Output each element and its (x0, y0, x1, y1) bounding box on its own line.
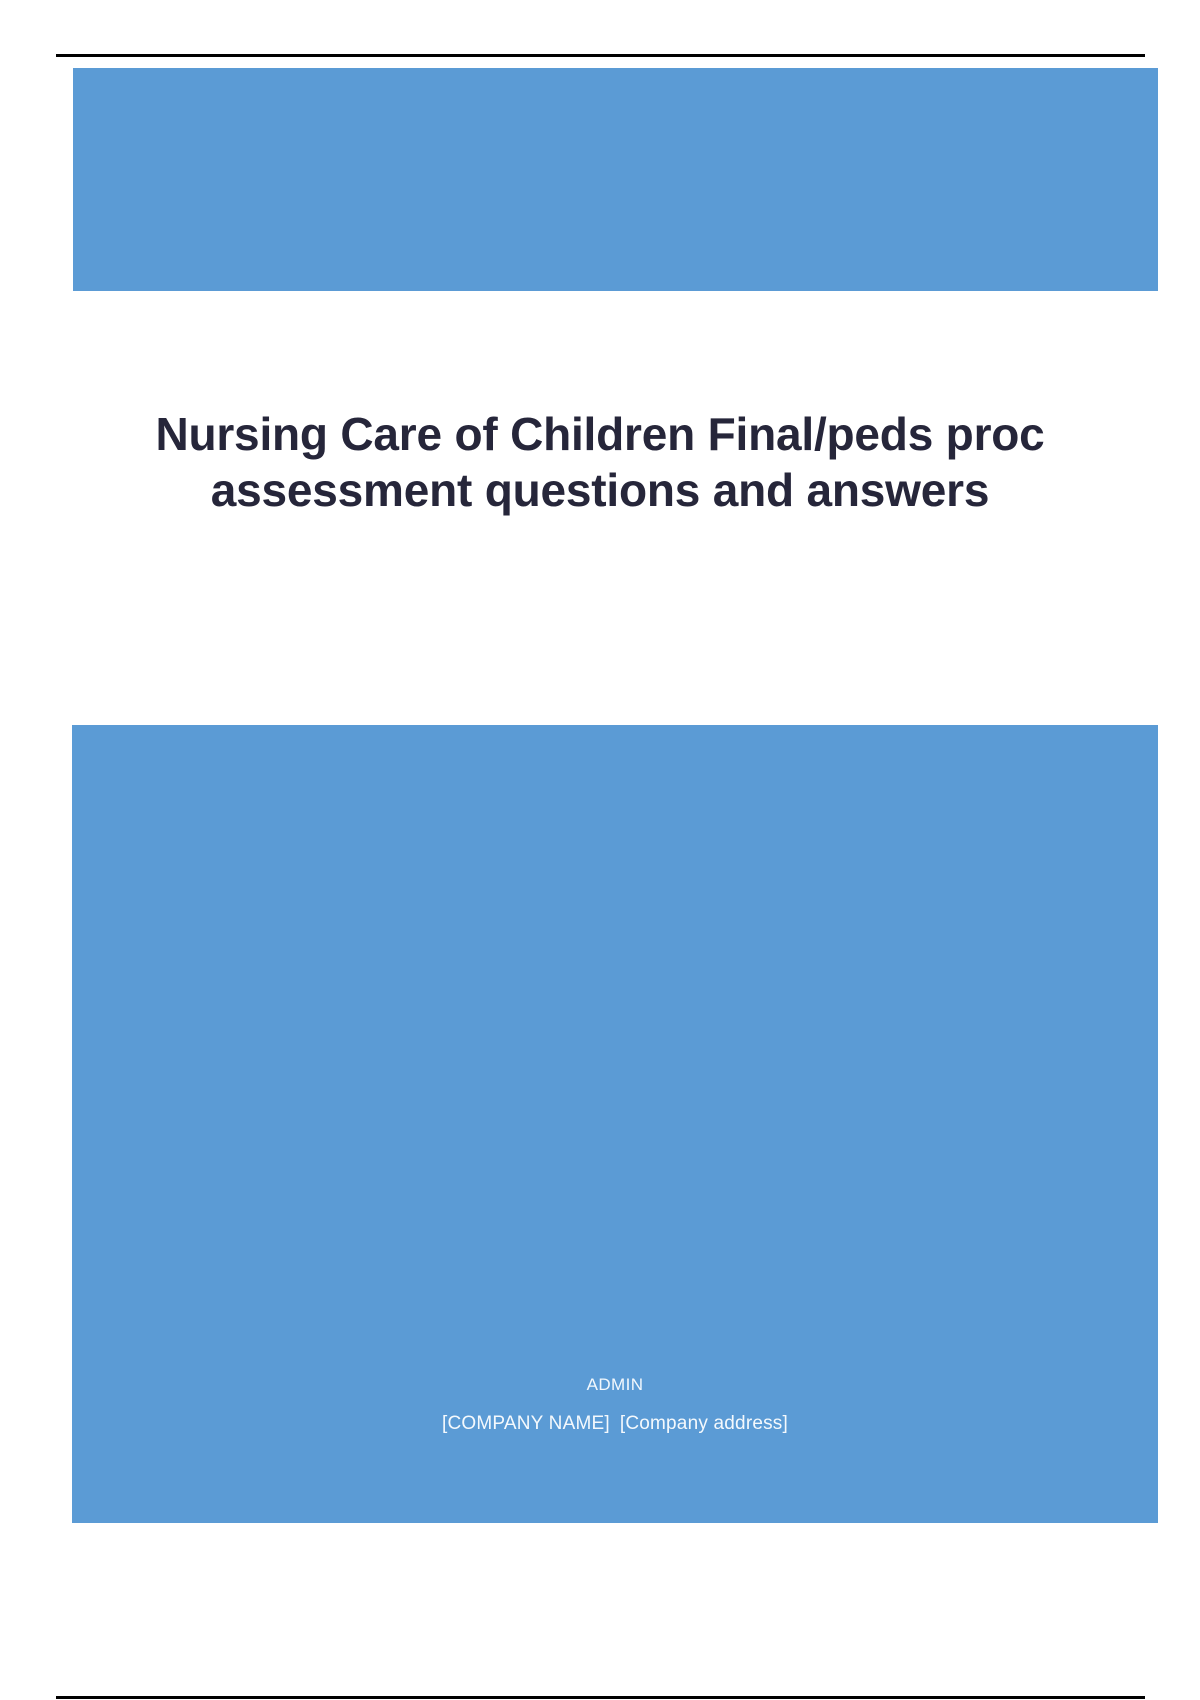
header-rule (56, 54, 1145, 57)
company-line: [COMPANY NAME][Company address] (72, 1410, 1158, 1438)
company-name: [COMPANY NAME] (442, 1413, 610, 1434)
title-line-1: Nursing Care of Children Final/peds proc (90, 406, 1110, 462)
page-title: Nursing Care of Children Final/peds proc… (0, 406, 1200, 518)
document-cover-page: Nursing Care of Children Final/peds proc… (0, 0, 1200, 1700)
top-accent-banner (73, 68, 1158, 291)
footer-rule (56, 1696, 1145, 1699)
author-name: ADMIN (72, 1372, 1158, 1398)
company-address: [Company address] (620, 1413, 788, 1434)
title-line-2: assessment questions and answers (90, 462, 1110, 518)
imprint-block: ADMIN [COMPANY NAME][Company address] (72, 1372, 1158, 1438)
